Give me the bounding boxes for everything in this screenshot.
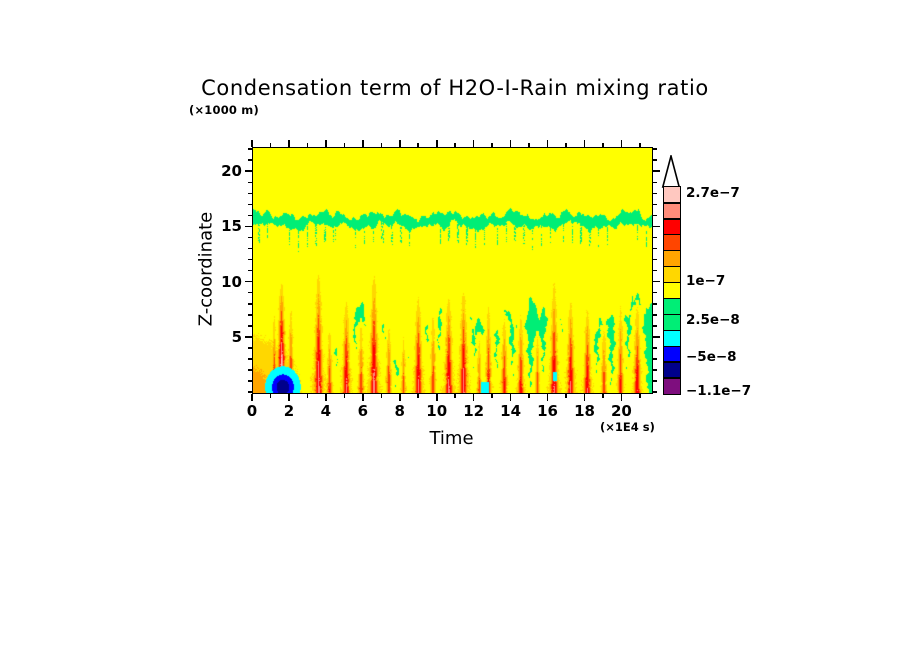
x-tick-mark [325, 140, 327, 147]
contour-field [253, 148, 652, 393]
colorbar-separator [664, 377, 680, 378]
x-tick-label-4: 4 [321, 402, 331, 420]
y-tick-mark [653, 193, 657, 195]
x-tick-mark [251, 394, 253, 401]
page-title: Condensation term of H2O-I-Rain mixing r… [190, 76, 720, 100]
colorbar-band [664, 362, 680, 378]
x-tick-mark [344, 143, 346, 147]
colorbar-band [664, 283, 680, 299]
y-tick-mark [248, 248, 252, 250]
x-tick-label-10: 10 [426, 402, 447, 420]
x-tick-mark [491, 143, 493, 147]
y-tick-mark [653, 292, 657, 294]
colorbar-arrow-icon [661, 155, 681, 188]
y-tick-mark [248, 270, 252, 272]
x-tick-mark [547, 394, 549, 401]
x-tick-mark [381, 394, 383, 398]
x-tick-mark [473, 140, 475, 147]
colorbar-band [664, 314, 680, 330]
y-tick-mark [248, 215, 252, 217]
x-tick-mark [417, 143, 419, 147]
y-axis-title: Z-coordinate [196, 212, 217, 327]
x-tick-label-0: 0 [247, 402, 257, 420]
y-tick-mark [653, 159, 657, 161]
y-tick-mark [248, 182, 252, 184]
x-tick-mark [307, 394, 309, 398]
x-tick-label-2: 2 [284, 402, 294, 420]
y-unit-label: (×1000 m) [189, 103, 259, 117]
x-tick-mark [288, 140, 290, 147]
colorbar-band [664, 267, 680, 283]
x-tick-mark [528, 394, 530, 398]
colorbar-separator [664, 218, 680, 219]
colorbar-separator [664, 202, 680, 203]
x-tick-mark [565, 143, 567, 147]
x-tick-mark [528, 143, 530, 147]
x-tick-label-18: 18 [574, 402, 595, 420]
y-tick-mark [248, 380, 252, 382]
y-tick-label-5: 5 [210, 328, 242, 346]
y-tick-mark [653, 303, 657, 305]
x-tick-mark [639, 394, 641, 398]
x-tick-mark [270, 143, 272, 147]
x-tick-mark [565, 394, 567, 398]
x-tick-mark [381, 143, 383, 147]
colorbar-band [664, 203, 680, 219]
x-tick-mark [362, 140, 364, 147]
colorbar-band [664, 235, 680, 251]
x-tick-mark [473, 394, 475, 401]
y-tick-mark [248, 325, 252, 327]
colorbar-separator [664, 298, 680, 299]
y-tick-mark [653, 391, 657, 393]
x-tick-label-14: 14 [500, 402, 521, 420]
y-tick-mark [248, 148, 252, 150]
y-tick-mark [248, 347, 252, 349]
y-tick-mark [248, 369, 252, 371]
y-tick-mark [248, 292, 252, 294]
colorbar-separator [664, 266, 680, 267]
y-tick-mark [653, 248, 657, 250]
colorbar-tick-label: 1e−7 [686, 273, 725, 289]
colorbar-band [664, 330, 680, 346]
x-tick-mark [454, 394, 456, 398]
y-tick-mark [653, 170, 660, 172]
colorbar-separator [664, 330, 680, 331]
colorbar-band [664, 298, 680, 314]
y-tick-mark [245, 226, 252, 228]
y-tick-mark [248, 259, 252, 261]
x-tick-mark [454, 143, 456, 147]
colorbar-band [664, 346, 680, 362]
colorbar-band [664, 187, 680, 203]
x-tick-mark [602, 143, 604, 147]
y-tick-mark [653, 314, 657, 316]
x-tick-mark [399, 140, 401, 147]
colorbar-tick-label: −5e−8 [686, 349, 737, 365]
colorbar-tick-label: 2.7e−7 [686, 185, 740, 201]
y-tick-mark [248, 391, 252, 393]
y-tick-mark [653, 358, 657, 360]
x-tick-mark [510, 394, 512, 401]
y-tick-mark [245, 281, 252, 283]
x-tick-mark [251, 140, 253, 147]
x-tick-mark [584, 140, 586, 147]
x-axis-title: Time [252, 428, 651, 449]
y-tick-mark [653, 380, 657, 382]
y-tick-mark [653, 369, 657, 371]
x-tick-label-16: 16 [537, 402, 558, 420]
figure-canvas: Condensation term of H2O-I-Rain mixing r… [0, 0, 904, 654]
colorbar-tick-label: 2.5e−8 [686, 312, 740, 328]
x-tick-label-12: 12 [463, 402, 484, 420]
x-tick-mark [621, 394, 623, 401]
x-tick-mark [362, 394, 364, 401]
y-tick-mark [248, 358, 252, 360]
y-tick-mark [653, 215, 657, 217]
x-tick-mark [491, 394, 493, 398]
x-tick-mark [547, 140, 549, 147]
colorbar-separator [664, 361, 680, 362]
y-tick-mark [248, 193, 252, 195]
y-tick-mark [653, 325, 657, 327]
y-tick-mark [653, 226, 660, 228]
x-tick-label-20: 20 [611, 402, 632, 420]
x-tick-mark [621, 140, 623, 147]
x-tick-mark [399, 394, 401, 401]
y-tick-mark [653, 336, 660, 338]
colorbar-band [664, 219, 680, 235]
y-tick-mark [653, 204, 657, 206]
y-tick-mark [248, 314, 252, 316]
x-tick-mark [436, 140, 438, 147]
colorbar-separator [664, 250, 680, 251]
colorbar-separator [664, 234, 680, 235]
x-tick-mark [510, 140, 512, 147]
y-tick-mark [245, 170, 252, 172]
y-tick-mark [245, 336, 252, 338]
colorbar-separator [664, 282, 680, 283]
y-tick-mark [248, 303, 252, 305]
x-tick-mark [307, 143, 309, 147]
colorbar-band [664, 251, 680, 267]
x-tick-mark [436, 394, 438, 401]
y-tick-mark [653, 182, 657, 184]
x-unit-label: (×1E4 s) [600, 420, 655, 434]
colorbar-band [664, 378, 680, 394]
y-tick-label-20: 20 [210, 162, 242, 180]
y-tick-mark [248, 237, 252, 239]
y-tick-mark [653, 259, 657, 261]
colorbar [663, 186, 681, 395]
x-tick-mark [344, 394, 346, 398]
y-tick-mark [248, 204, 252, 206]
colorbar-separator [664, 346, 680, 347]
y-tick-mark [248, 159, 252, 161]
y-tick-mark [653, 270, 657, 272]
y-tick-mark [653, 148, 657, 150]
x-tick-mark [584, 394, 586, 401]
colorbar-separator [664, 314, 680, 315]
x-tick-label-8: 8 [395, 402, 405, 420]
y-tick-mark [653, 281, 660, 283]
y-tick-mark [653, 347, 657, 349]
x-tick-mark [270, 394, 272, 398]
colorbar-tick-label: −1.1e−7 [686, 383, 751, 399]
x-tick-mark [325, 394, 327, 401]
x-tick-mark [639, 143, 641, 147]
x-tick-mark [602, 394, 604, 398]
x-tick-label-6: 6 [358, 402, 368, 420]
x-tick-mark [417, 394, 419, 398]
x-tick-mark [288, 394, 290, 401]
y-tick-mark [653, 237, 657, 239]
plot-area [252, 147, 653, 394]
